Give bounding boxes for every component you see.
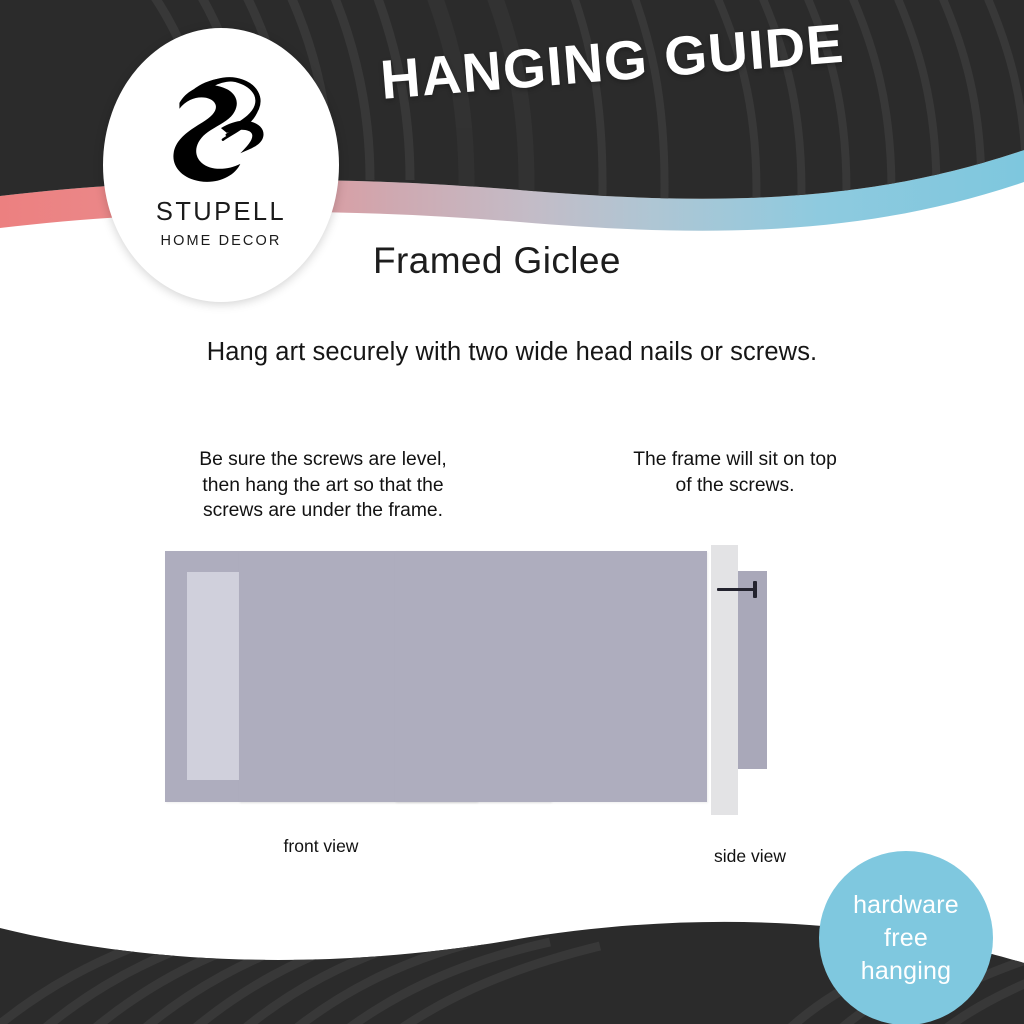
side-view-wall: [711, 545, 738, 815]
caption-line: then hang the art so that the: [163, 473, 483, 499]
side-view-caption: The frame will sit on top of the screws.: [600, 447, 870, 498]
brand-name: STUPELL: [156, 200, 286, 226]
product-title: Framed Giclee: [373, 240, 621, 282]
side-view-frame: [738, 571, 767, 769]
front-view-label: front view: [165, 836, 477, 857]
badge-line: free: [884, 922, 928, 955]
badge-line: hanging: [861, 955, 951, 988]
caption-line: Be sure the screws are level,: [163, 447, 483, 473]
stupell-swoosh-s-icon: [163, 70, 279, 190]
badge-line: hardware: [853, 889, 959, 922]
nail-head-icon: [753, 581, 757, 598]
brand-tagline: HOME DECOR: [161, 234, 282, 249]
nail-icon: [717, 588, 757, 591]
caption-line: screws are under the frame.: [163, 498, 483, 524]
brand-logo-badge: STUPELL HOME DECOR: [103, 28, 339, 302]
hardware-free-hanging-badge: hardware free hanging: [819, 851, 993, 1024]
caption-line: The frame will sit on top: [600, 447, 870, 473]
caption-line: of the screws.: [600, 473, 870, 499]
front-view-caption: Be sure the screws are level, then hang …: [163, 447, 483, 524]
primary-instruction: Hang art securely with two wide head nai…: [0, 338, 1024, 367]
screw-dot-right: [395, 551, 707, 802]
hanging-guide-canvas: STUPELL HOME DECOR HANGING GUIDE Framed …: [0, 0, 1024, 1024]
side-view-label: side view: [640, 846, 860, 867]
guide-title: HANGING GUIDE: [378, 11, 846, 112]
